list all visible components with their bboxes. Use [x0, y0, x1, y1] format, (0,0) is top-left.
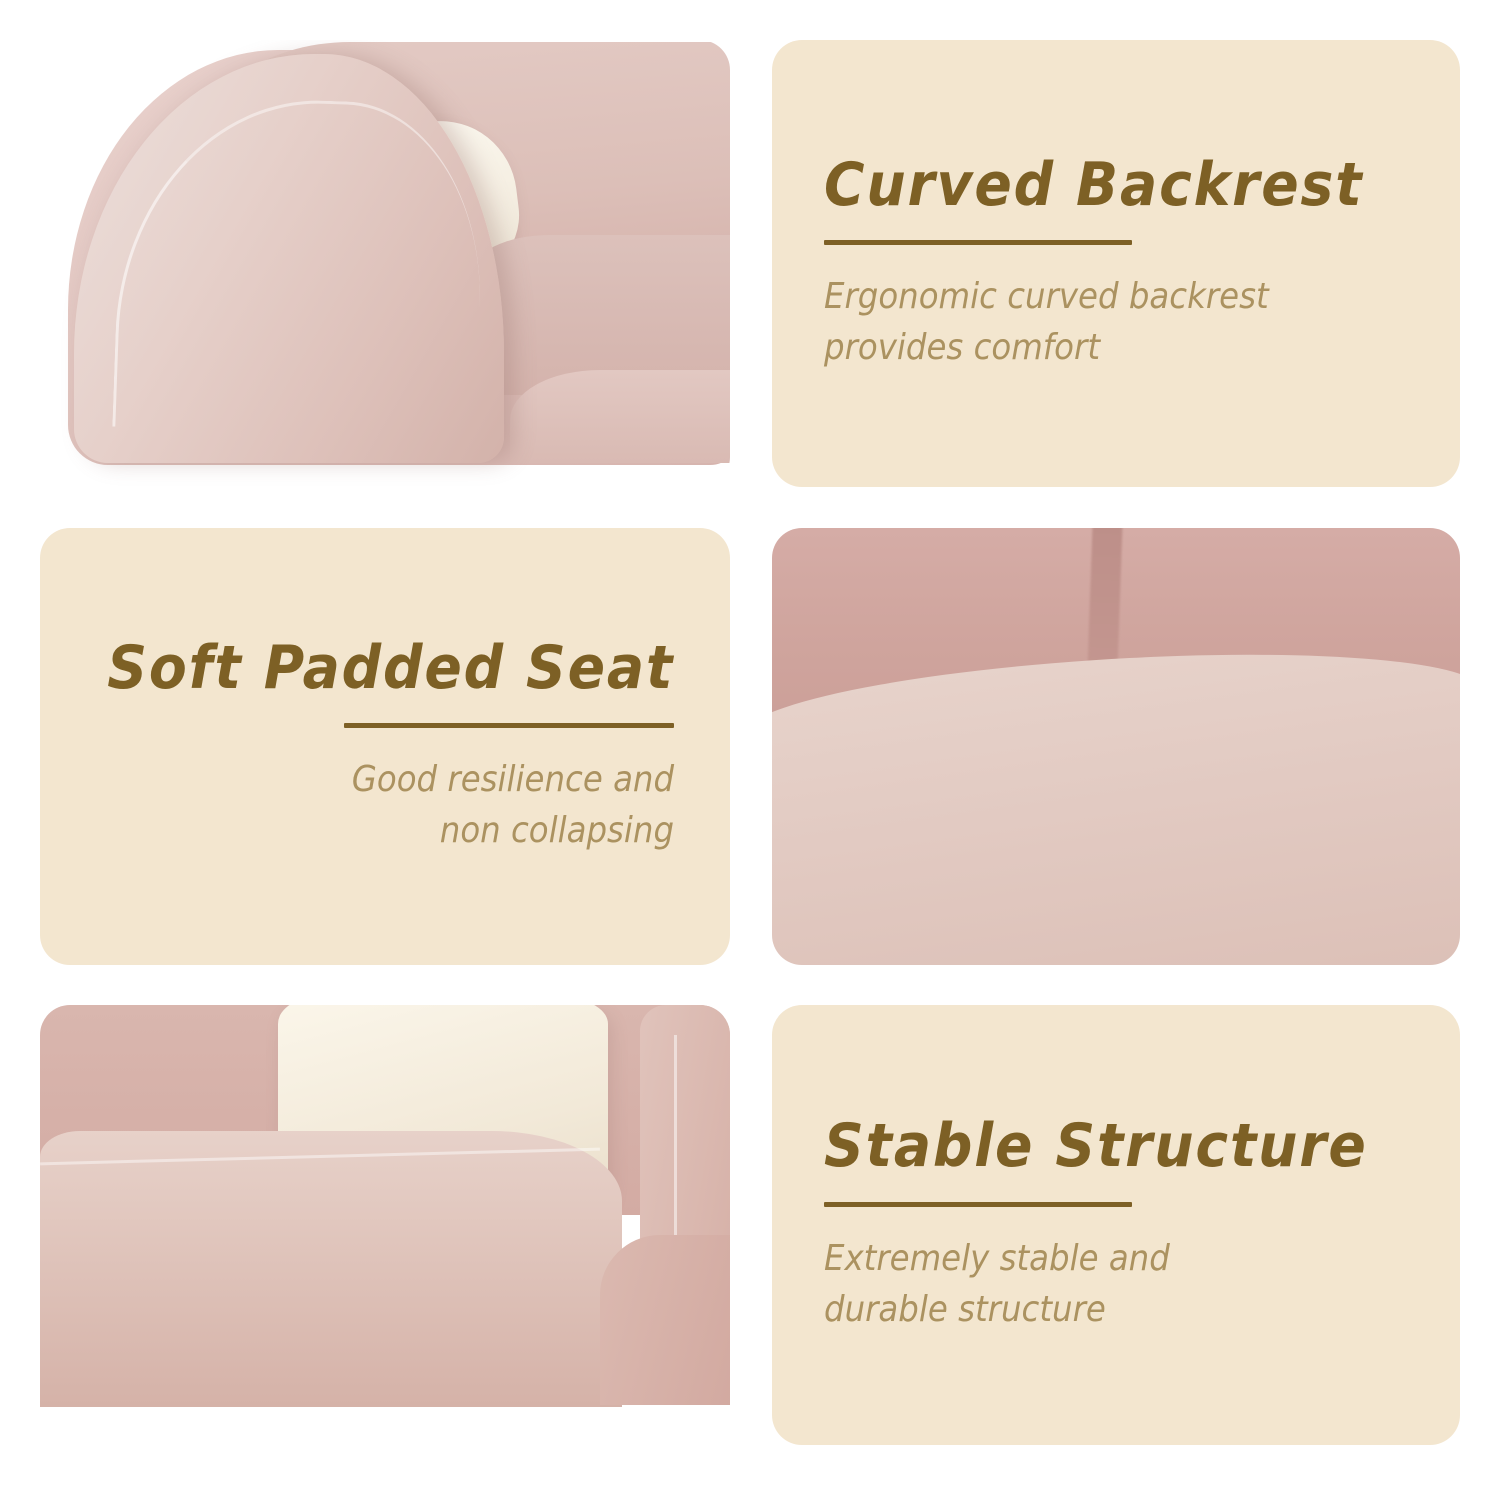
infographic-canvas: Curved Backrest Ergonomic curved backres…: [0, 0, 1500, 1500]
feature-card-curved-backrest: Curved Backrest Ergonomic curved backres…: [772, 40, 1460, 487]
feature-card-stable-structure: Stable Structure Extremely stable and du…: [772, 1005, 1460, 1445]
photo-panel-sofa-arm-backrest-closeup: [40, 40, 730, 487]
seat-front-edge: [600, 1235, 730, 1405]
feature-title-curved-backrest: Curved Backrest: [824, 154, 1363, 216]
sofa-seat-cushion: [510, 370, 730, 463]
feature-description-line-2: durable structure: [824, 1284, 1170, 1335]
sofa-padded-seat: [772, 640, 1460, 965]
feature-description-soft-padded-seat: Good resilience and non collapsing: [352, 754, 674, 856]
feature-description-line-1: Ergonomic curved backrest: [824, 271, 1269, 322]
sofa-seat-cushion: [40, 1131, 622, 1407]
feature-description-line-2: non collapsing: [352, 805, 674, 856]
photo-panel-sofa-seat-pillow-closeup: [40, 1005, 730, 1445]
feature-description-curved-backrest: Ergonomic curved backrest provides comfo…: [824, 271, 1269, 373]
feature-description-line-1: Extremely stable and: [824, 1233, 1170, 1284]
sofa-seat-pillow-image: [40, 1005, 730, 1445]
sofa-arm-backrest-image: [40, 40, 730, 487]
sofa-cushions-seat-image: [772, 528, 1460, 965]
feature-card-soft-padded-seat: Soft Padded Seat Good resilience and non…: [40, 528, 730, 965]
feature-divider-stable-structure: [824, 1202, 1132, 1207]
feature-description-stable-structure: Extremely stable and durable structure: [824, 1233, 1170, 1335]
feature-divider-curved-backrest: [824, 240, 1132, 245]
feature-title-stable-structure: Stable Structure: [824, 1115, 1368, 1177]
feature-description-line-1: Good resilience and: [352, 754, 674, 805]
photo-panel-sofa-cushions-seat-closeup: [772, 528, 1460, 965]
feature-divider-soft-padded-seat: [344, 723, 674, 728]
feature-title-soft-padded-seat: Soft Padded Seat: [107, 637, 674, 699]
feature-description-line-2: provides comfort: [824, 322, 1269, 373]
